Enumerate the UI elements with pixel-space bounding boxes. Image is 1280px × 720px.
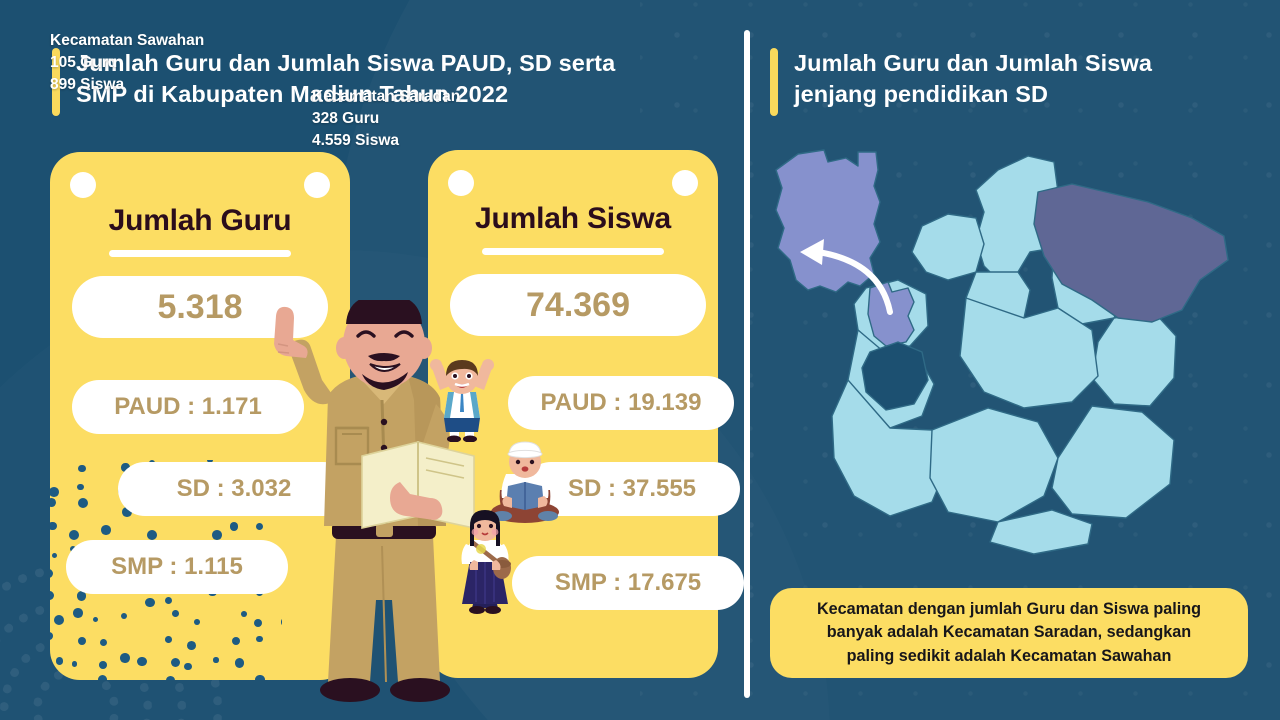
punch-hole-icon: [448, 170, 474, 196]
map-region-east-lower: [1092, 312, 1176, 406]
card-title-siswa: Jumlah Siswa: [428, 202, 718, 236]
card-title-underline: [482, 248, 664, 255]
student-paud-illustration: [428, 356, 496, 442]
map-label-saradan: Kecamatan Saradan 328 Guru 4.559 Siswa: [312, 86, 460, 152]
map-caption-box: Kecamatan dengan jumlah Guru dan Siswa p…: [770, 588, 1248, 678]
right-panel-title: Jumlah Guru dan Jumlah Siswa jenjang pen…: [770, 48, 1152, 116]
map-region-northwest: [912, 214, 984, 280]
guru-smp-pill: SMP : 1.115: [66, 540, 288, 594]
punch-hole-icon: [304, 172, 330, 198]
map-label-sawahan: Kecamatan Sawahan 105 Guru 899 Siswa: [50, 30, 204, 96]
student-smp-illustration: [452, 508, 518, 616]
siswa-total-pill: 74.369: [450, 274, 706, 336]
siswa-smp-pill: SMP : 17.675: [512, 556, 744, 610]
infographic-canvas: Jumlah Guru dan Jumlah Siswa PAUD, SD se…: [0, 0, 1280, 720]
right-title-text: Jumlah Guru dan Jumlah Siswa jenjang pen…: [794, 48, 1152, 111]
punch-hole-icon: [672, 170, 698, 196]
map-region-south-east: [1052, 406, 1174, 518]
madiun-regency-map: [762, 140, 1262, 560]
title-accent-bar: [770, 48, 778, 116]
card-title-guru: Jumlah Guru: [50, 204, 350, 238]
panel-divider: [744, 30, 750, 698]
map-region-south-central: [930, 408, 1058, 522]
card-title-underline: [109, 250, 291, 257]
punch-hole-icon: [70, 172, 96, 198]
siswa-paud-pill: PAUD : 19.139: [508, 376, 734, 430]
